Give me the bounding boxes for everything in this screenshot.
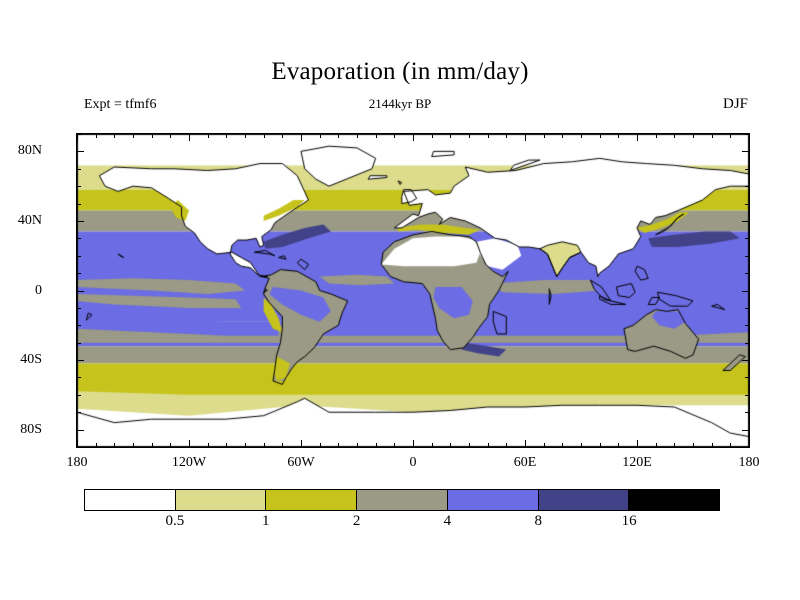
colorbar [84,489,720,511]
tick-mark [469,134,470,138]
x-axis-tick-label: 0 [373,455,453,471]
tick-mark [693,134,694,138]
tick-mark [394,134,395,138]
tick-mark [562,134,563,138]
tick-mark [77,412,81,413]
y-axis-tick-label: 40N [0,213,42,229]
tick-mark [730,443,731,447]
tick-mark [77,256,81,257]
tick-mark [357,443,358,447]
tick-mark [488,443,489,447]
tick-mark [114,443,115,447]
y-axis-tick-label: 80S [0,422,42,438]
tick-mark [674,134,675,138]
tick-mark [77,151,84,152]
tick-mark [745,186,749,187]
tick-mark [506,134,507,138]
tick-mark [544,134,545,138]
tick-mark [170,134,171,138]
tick-mark [745,412,749,413]
colorbar-tick-label: 4 [417,513,477,530]
tick-mark [96,134,97,138]
tick-mark [77,221,84,222]
tick-mark [77,204,81,205]
tick-mark [77,134,78,141]
tick-mark [320,443,321,447]
tick-mark [96,443,97,447]
tick-mark [77,377,81,378]
tick-mark [525,440,526,447]
tick-mark [77,186,81,187]
tick-mark [226,443,227,447]
tick-mark [114,134,115,138]
tick-mark [656,134,657,138]
experiment-label: Expt = tfmf6 [84,97,156,113]
tick-mark [338,443,339,447]
x-axis-tick-label: 60E [485,455,565,471]
tick-mark [152,134,153,138]
tick-mark [742,360,749,361]
tick-mark [77,169,81,170]
x-axis-tick-label: 120E [597,455,677,471]
tick-mark [637,440,638,447]
tick-mark [77,238,81,239]
colorbar-tick-label: 8 [508,513,568,530]
tick-mark [745,134,749,135]
colorbar-band [447,490,538,510]
colorbar-tick-label: 1 [236,513,296,530]
tick-mark [712,443,713,447]
colorbar-band [265,490,356,510]
tick-mark [656,443,657,447]
tick-mark [282,134,283,138]
colorbar-tick-label: 0.5 [145,513,205,530]
tick-mark [376,443,377,447]
tick-mark [749,134,750,141]
tick-mark [432,443,433,447]
tick-mark [745,325,749,326]
colorbar-band [85,490,175,510]
tick-mark [562,443,563,447]
map-plot-area [76,133,750,448]
tick-mark [618,443,619,447]
tick-mark [712,134,713,138]
tick-mark [745,204,749,205]
colorbar-band [356,490,447,510]
y-axis-tick-label: 40S [0,352,42,368]
tick-mark [742,430,749,431]
tick-mark [506,443,507,447]
tick-mark [745,238,749,239]
tick-mark [301,134,302,141]
tick-mark [742,151,749,152]
tick-mark [301,440,302,447]
colorbar-band [175,490,266,510]
tick-mark [77,134,81,135]
tick-mark [469,443,470,447]
tick-mark [581,443,582,447]
x-axis-tick-label: 120W [149,455,229,471]
tick-mark [208,134,209,138]
tick-mark [413,134,414,141]
tick-mark [745,169,749,170]
tick-mark [745,273,749,274]
tick-mark [742,221,749,222]
tick-mark [525,134,526,141]
tick-mark [264,134,265,138]
tick-mark [488,134,489,138]
tick-mark [208,443,209,447]
tick-mark [745,256,749,257]
tick-mark [742,291,749,292]
tick-mark [730,134,731,138]
x-axis-tick-label: 180 [37,455,117,471]
tick-mark [320,134,321,138]
tick-mark [745,308,749,309]
tick-mark [745,377,749,378]
tick-mark [170,443,171,447]
tick-mark [749,440,750,447]
tick-mark [77,273,81,274]
tick-mark [245,134,246,138]
tick-mark [432,134,433,138]
season-label: DJF [723,96,748,113]
x-axis-tick-label: 60W [261,455,341,471]
tick-mark [77,343,81,344]
tick-mark [338,134,339,138]
tick-mark [450,134,451,138]
tick-mark [77,325,81,326]
tick-mark [77,360,84,361]
x-axis-tick-label: 180 [709,455,789,471]
tick-mark [245,443,246,447]
colorbar-bands [84,489,720,511]
tick-mark [282,443,283,447]
tick-mark [77,291,84,292]
tick-mark [600,134,601,138]
tick-mark [413,440,414,447]
tick-mark [77,395,81,396]
tick-mark [581,134,582,138]
tick-mark [637,134,638,141]
tick-mark [133,443,134,447]
tick-mark [693,443,694,447]
colorbar-tick-label: 16 [599,513,659,530]
tick-mark [376,134,377,138]
tick-mark [745,343,749,344]
tick-mark [674,443,675,447]
tick-mark [745,447,749,448]
colorbar-tick-label: 2 [327,513,387,530]
tick-mark [745,395,749,396]
tick-mark [77,308,81,309]
tick-mark [133,134,134,138]
tick-mark [264,443,265,447]
tick-mark [77,440,78,447]
tick-mark [152,443,153,447]
y-axis-tick-label: 0 [0,283,42,299]
tick-mark [544,443,545,447]
y-axis-tick-label: 80N [0,143,42,159]
tick-mark [226,134,227,138]
tick-mark [450,443,451,447]
tick-mark [394,443,395,447]
tick-mark [77,447,81,448]
colorbar-band [538,490,629,510]
tick-mark [189,134,190,141]
tick-mark [189,440,190,447]
tick-mark [357,134,358,138]
tick-mark [77,430,84,431]
evaporation-map-canvas [77,134,749,447]
page-title: Evaporation (in mm/day) [0,58,800,86]
colorbar-band [628,490,719,510]
tick-mark [600,443,601,447]
tick-mark [618,134,619,138]
